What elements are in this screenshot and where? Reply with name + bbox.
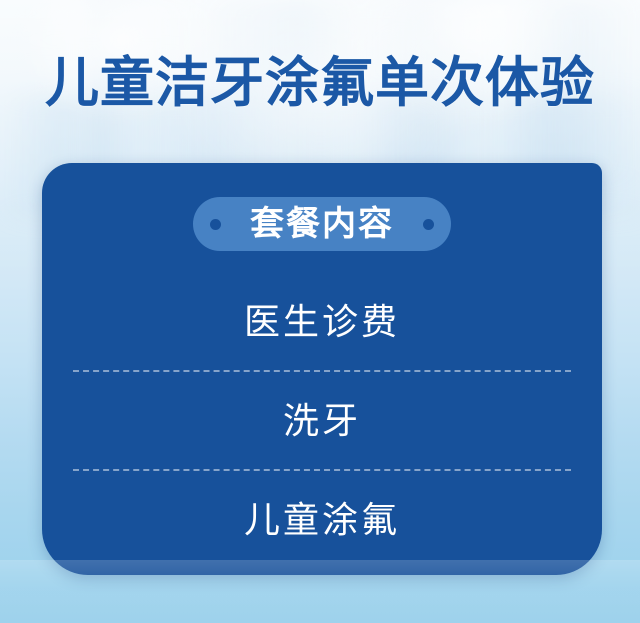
promo-poster: 儿童洁牙涂氟单次体验 套餐内容 医生诊费 洗牙 儿童涂氟	[0, 0, 640, 623]
package-content-header: 套餐内容	[193, 197, 451, 251]
page-title: 儿童洁牙涂氟单次体验	[0, 52, 640, 114]
list-item-label: 洗牙	[283, 399, 361, 443]
package-card: 套餐内容 医生诊费 洗牙 儿童涂氟	[42, 163, 602, 575]
package-item-list: 医生诊费 洗牙 儿童涂氟	[42, 273, 602, 568]
list-item: 医生诊费	[42, 273, 602, 370]
package-content-label: 套餐内容	[250, 205, 394, 243]
list-item-label: 医生诊费	[244, 300, 400, 344]
list-item-label: 儿童涂氟	[244, 498, 400, 542]
list-item: 儿童涂氟	[42, 471, 602, 568]
list-item: 洗牙	[42, 372, 602, 469]
dot-left-icon	[210, 219, 221, 230]
dot-right-icon	[423, 219, 434, 230]
